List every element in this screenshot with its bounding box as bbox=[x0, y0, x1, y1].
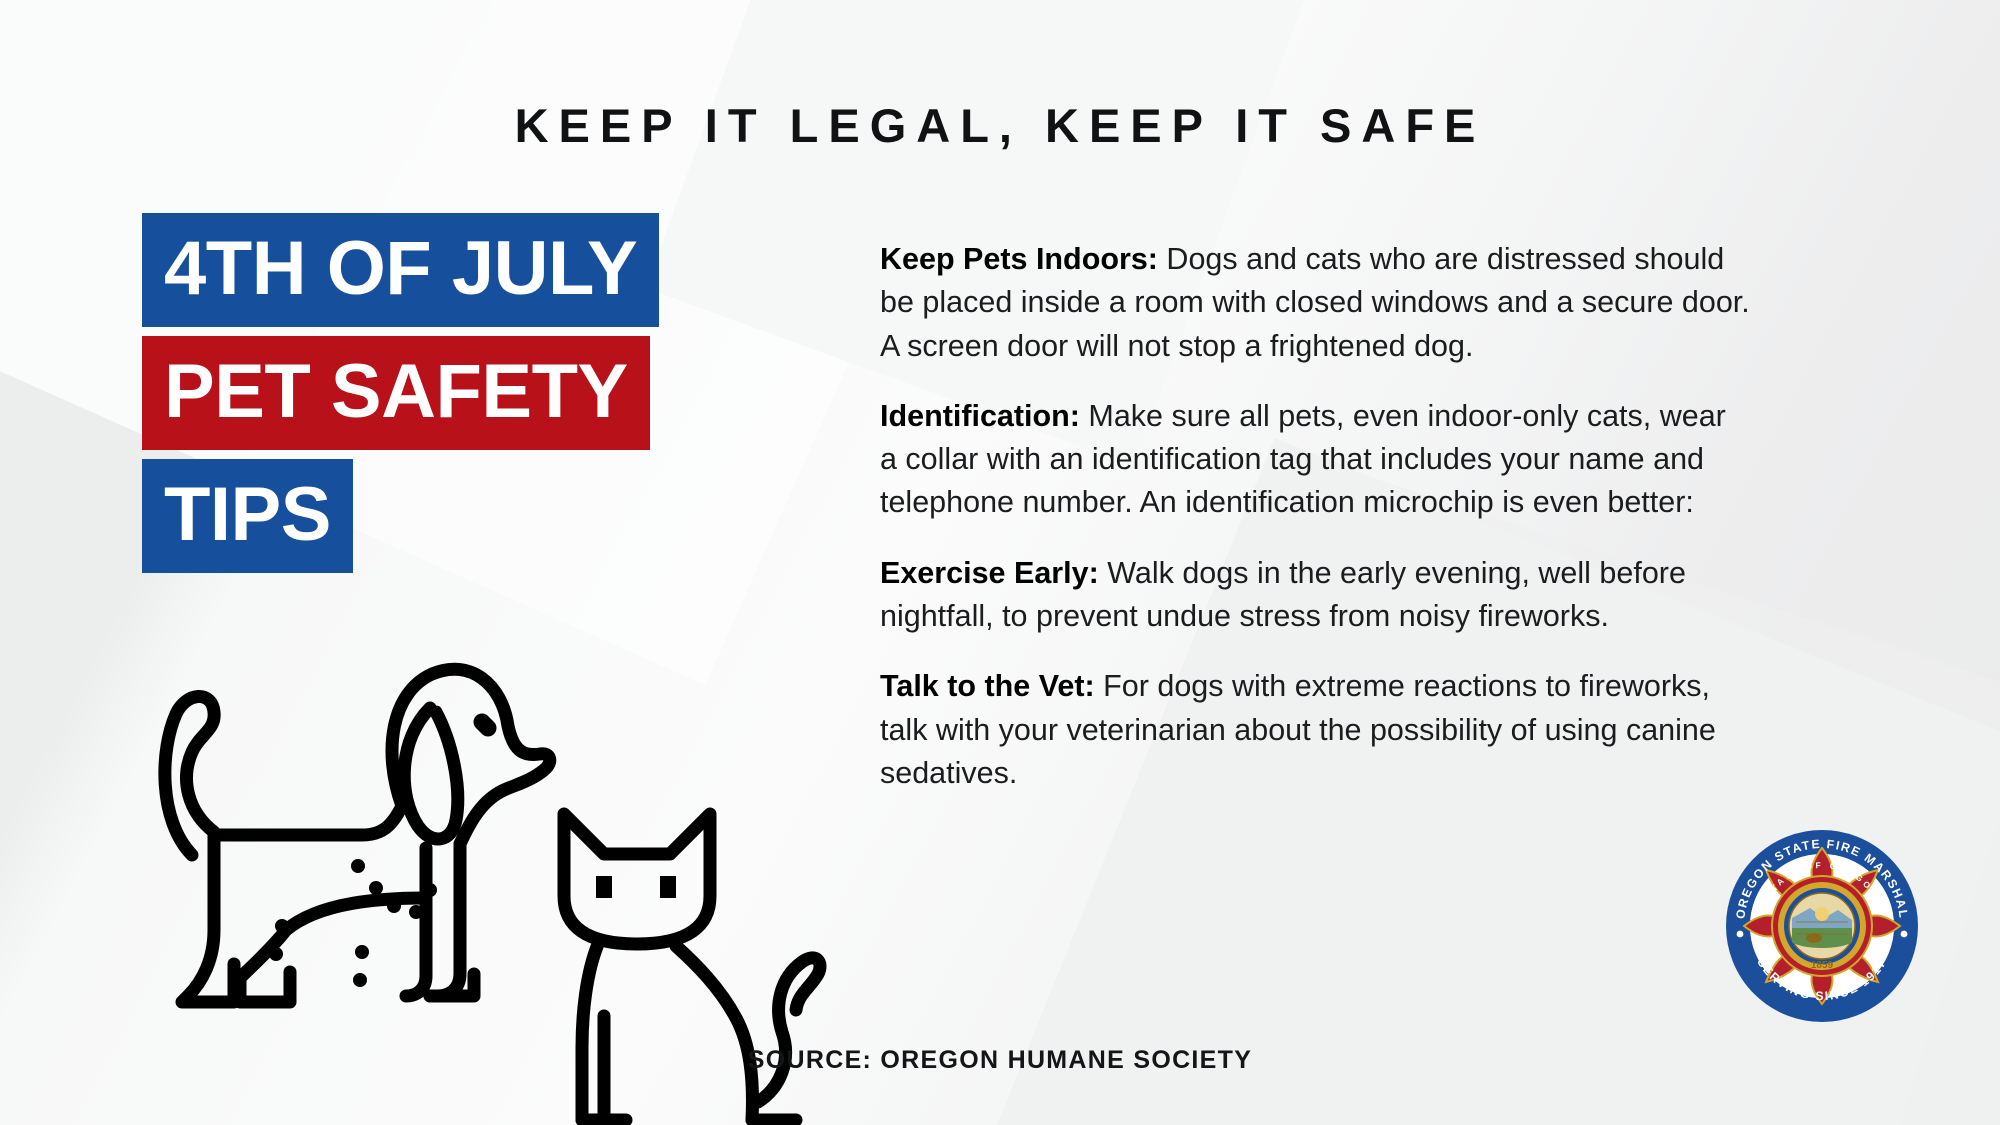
title-band-pet-safety: PET SAFETY bbox=[142, 336, 650, 450]
tip-exercise-early: Exercise Early: Walk dogs in the early e… bbox=[880, 552, 1750, 639]
title-band-stack: 4TH OF JULY PET SAFETY TIPS bbox=[142, 213, 659, 573]
page-title: KEEP IT LEGAL, KEEP IT SAFE bbox=[0, 98, 2000, 153]
tip-talk-to-the-vet: Talk to the Vet: For dogs with extreme r… bbox=[880, 665, 1750, 795]
tip-identification: Identification: Make sure all pets, even… bbox=[880, 395, 1750, 525]
source-credit: SOURCE: OREGON HUMANE SOCIETY bbox=[0, 1046, 2000, 1075]
tip-label: Talk to the Vet: bbox=[880, 669, 1095, 703]
tip-keep-pets-indoors: Keep Pets Indoors: Dogs and cats who are… bbox=[880, 238, 1750, 368]
oregon-state-fire-marshal-seal-icon: STATE OF OREGON 1859 OREGON STATE FIRE M… bbox=[1718, 822, 1926, 1030]
tip-label: Identification: bbox=[880, 399, 1080, 433]
tip-label: Keep Pets Indoors: bbox=[880, 242, 1158, 276]
pet-illustrations bbox=[130, 630, 810, 1030]
tips-list: Keep Pets Indoors: Dogs and cats who are… bbox=[880, 238, 1750, 795]
infographic-poster: KEEP IT LEGAL, KEEP IT SAFE 4TH OF JULY … bbox=[0, 0, 2000, 1125]
seal-year: 1859 bbox=[1811, 960, 1834, 971]
title-band-4th-of-july: 4TH OF JULY bbox=[142, 213, 659, 327]
title-band-tips: TIPS bbox=[142, 459, 353, 573]
tip-label: Exercise Early: bbox=[880, 556, 1099, 590]
